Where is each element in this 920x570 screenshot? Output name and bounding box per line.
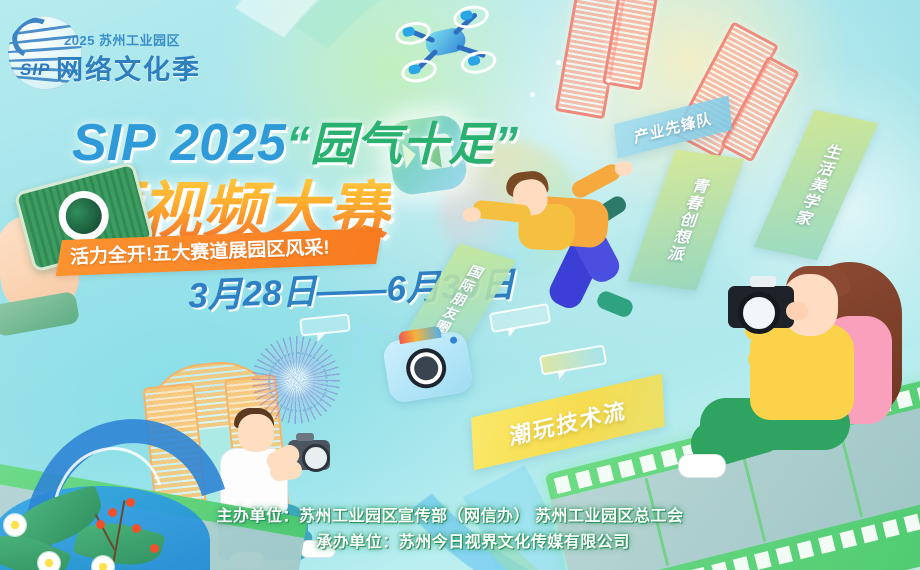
- jumping-youth: [461, 141, 669, 340]
- dslr-camera-icon: [728, 286, 794, 328]
- poster-canvas: SIP 2025 苏州工业园区 网络文化季 SIP 2025“园气十足” 短视频…: [0, 0, 920, 570]
- camera-icon: [382, 330, 475, 404]
- sparkle-dot: [556, 60, 561, 65]
- sparkle-dot: [530, 92, 535, 97]
- sparkle-dot: [606, 78, 611, 83]
- co-organizer-line: 承办单位：苏州今日视界文化传媒有限公司: [0, 530, 920, 556]
- organizer-line: 主办单位：苏州工业园区宣传部（网信办） 苏州工业园区总工会: [0, 504, 920, 530]
- event-logo: SIP 2025 苏州工业园区 网络文化季: [8, 12, 258, 96]
- logo-line-2: 网络文化季: [56, 48, 256, 87]
- credits-block: 主办单位：苏州工业园区宣传部（网信办） 苏州工业园区总工会 承办单位：苏州今日视…: [0, 504, 920, 556]
- track-label-3: 生活美学家: [786, 141, 846, 228]
- female-photographer: [690, 258, 920, 508]
- sip-logo-text: SIP: [20, 60, 50, 80]
- logo-line-1: 2025 苏州工业园区: [56, 30, 256, 49]
- track-label-2: 青春创想派: [659, 176, 714, 264]
